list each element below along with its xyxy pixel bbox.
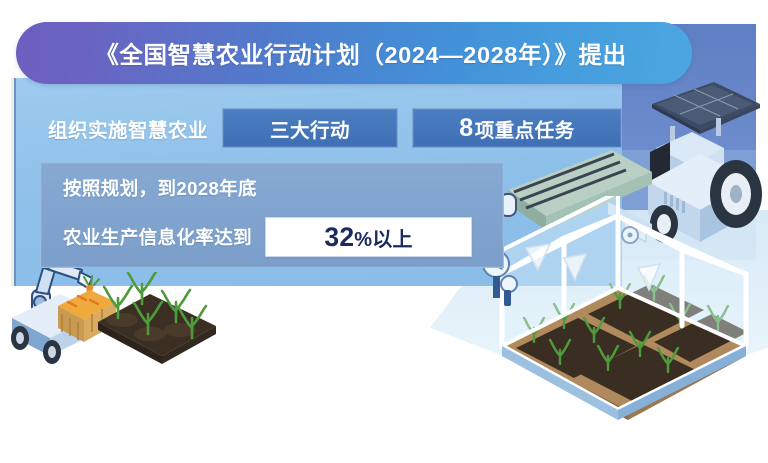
title-bar: 《全国智慧农业行动计划（2024—2028年）》提出 — [16, 22, 692, 84]
crop-rows-illustration — [88, 272, 228, 372]
page-title: 《全国智慧农业行动计划（2024—2028年）》提出 — [95, 36, 626, 70]
pill-eight-key-tasks-label: 项重点任务 — [475, 114, 575, 143]
metric-number: 32 — [324, 222, 354, 252]
infographic-root: 《全国智慧农业行动计划（2024—2028年）》提出 组织实施智慧农业 三大行动… — [0, 0, 768, 463]
metric-row: 农业生产信息化率达到 32%以上 — [63, 217, 472, 257]
carrot-crate — [58, 290, 116, 342]
metric-value-box: 32%以上 — [265, 217, 472, 257]
actions-row-label: 组织实施智慧农业 — [48, 114, 208, 143]
pill-three-major-actions[interactable]: 三大行动 — [222, 108, 398, 148]
pill-eight-key-tasks-number: 8 — [459, 116, 473, 141]
metric-label: 农业生产信息化率达到 — [63, 224, 252, 250]
actions-row: 组织实施智慧农业 三大行动 8 项重点任务 — [48, 108, 622, 148]
plan-heading: 按照规划，到2028年底 — [63, 175, 257, 201]
metric-suffix: %以上 — [354, 229, 412, 251]
crop-rows-svg — [88, 272, 228, 372]
metric-value: 32%以上 — [324, 223, 412, 252]
pill-eight-key-tasks[interactable]: 8 项重点任务 — [412, 108, 622, 148]
pill-three-major-actions-label: 三大行动 — [270, 114, 350, 143]
plan-panel: 按照规划，到2028年底 农业生产信息化率达到 32%以上 — [40, 162, 504, 268]
title-bar-inner: 《全国智慧农业行动计划（2024—2028年）》提出 — [16, 22, 692, 84]
